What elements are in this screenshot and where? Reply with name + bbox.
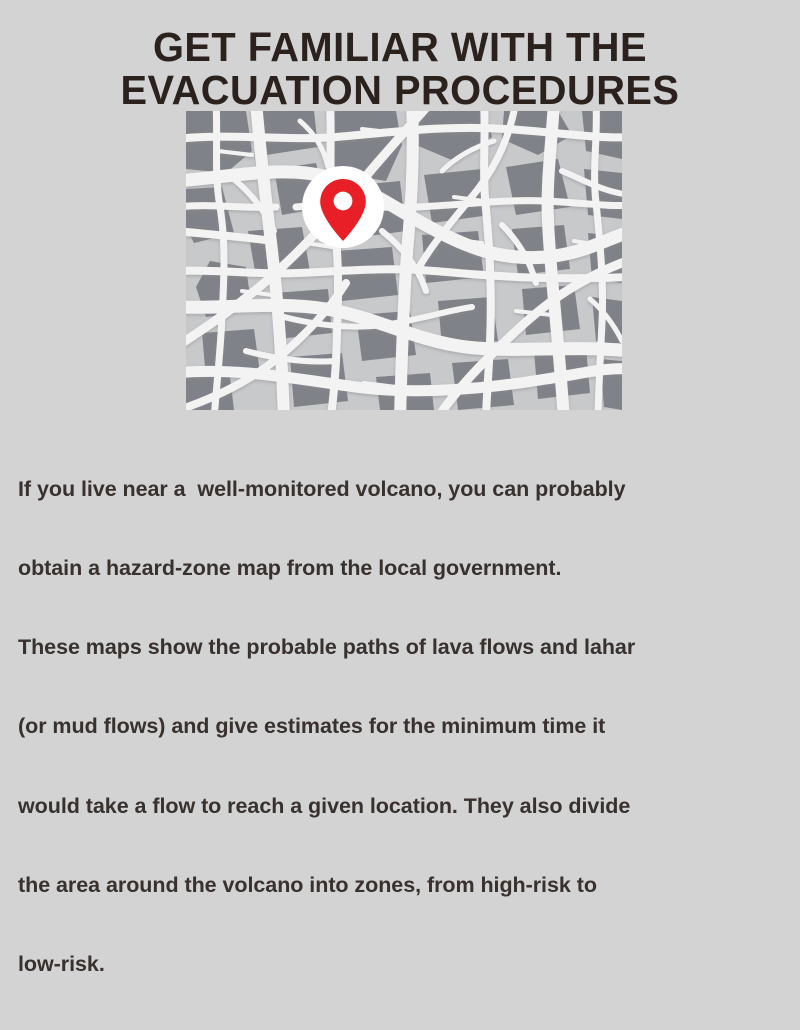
body-line-6: the area around the volcano into zones, … <box>18 872 784 898</box>
body-line-4: (or mud flows) and give estimates for th… <box>18 713 784 739</box>
body-line-5: would take a flow to reach a given locat… <box>18 793 784 819</box>
body-line-2: obtain a hazard-zone map from the local … <box>18 555 784 581</box>
body-line-1: If you live near a well-monitored volcan… <box>18 476 784 502</box>
map-illustration <box>186 111 622 410</box>
page-title-line-2: EVACUATION PROCEDURES <box>12 69 788 112</box>
body-line-3: These maps show the probable paths of la… <box>18 634 784 660</box>
page-title: GET FAMILIAR WITH THE EVACUATION PROCEDU… <box>12 26 788 112</box>
map-pin-icon[interactable] <box>302 166 384 248</box>
body-paragraph: If you live near a well-monitored volcan… <box>18 423 784 1030</box>
page-title-line-1: GET FAMILIAR WITH THE <box>12 26 788 69</box>
body-line-7: low-risk. <box>18 951 784 977</box>
map-svg <box>186 111 622 410</box>
infographic-slide: GET FAMILIAR WITH THE EVACUATION PROCEDU… <box>0 0 800 640</box>
map-pin-hole <box>334 192 353 211</box>
